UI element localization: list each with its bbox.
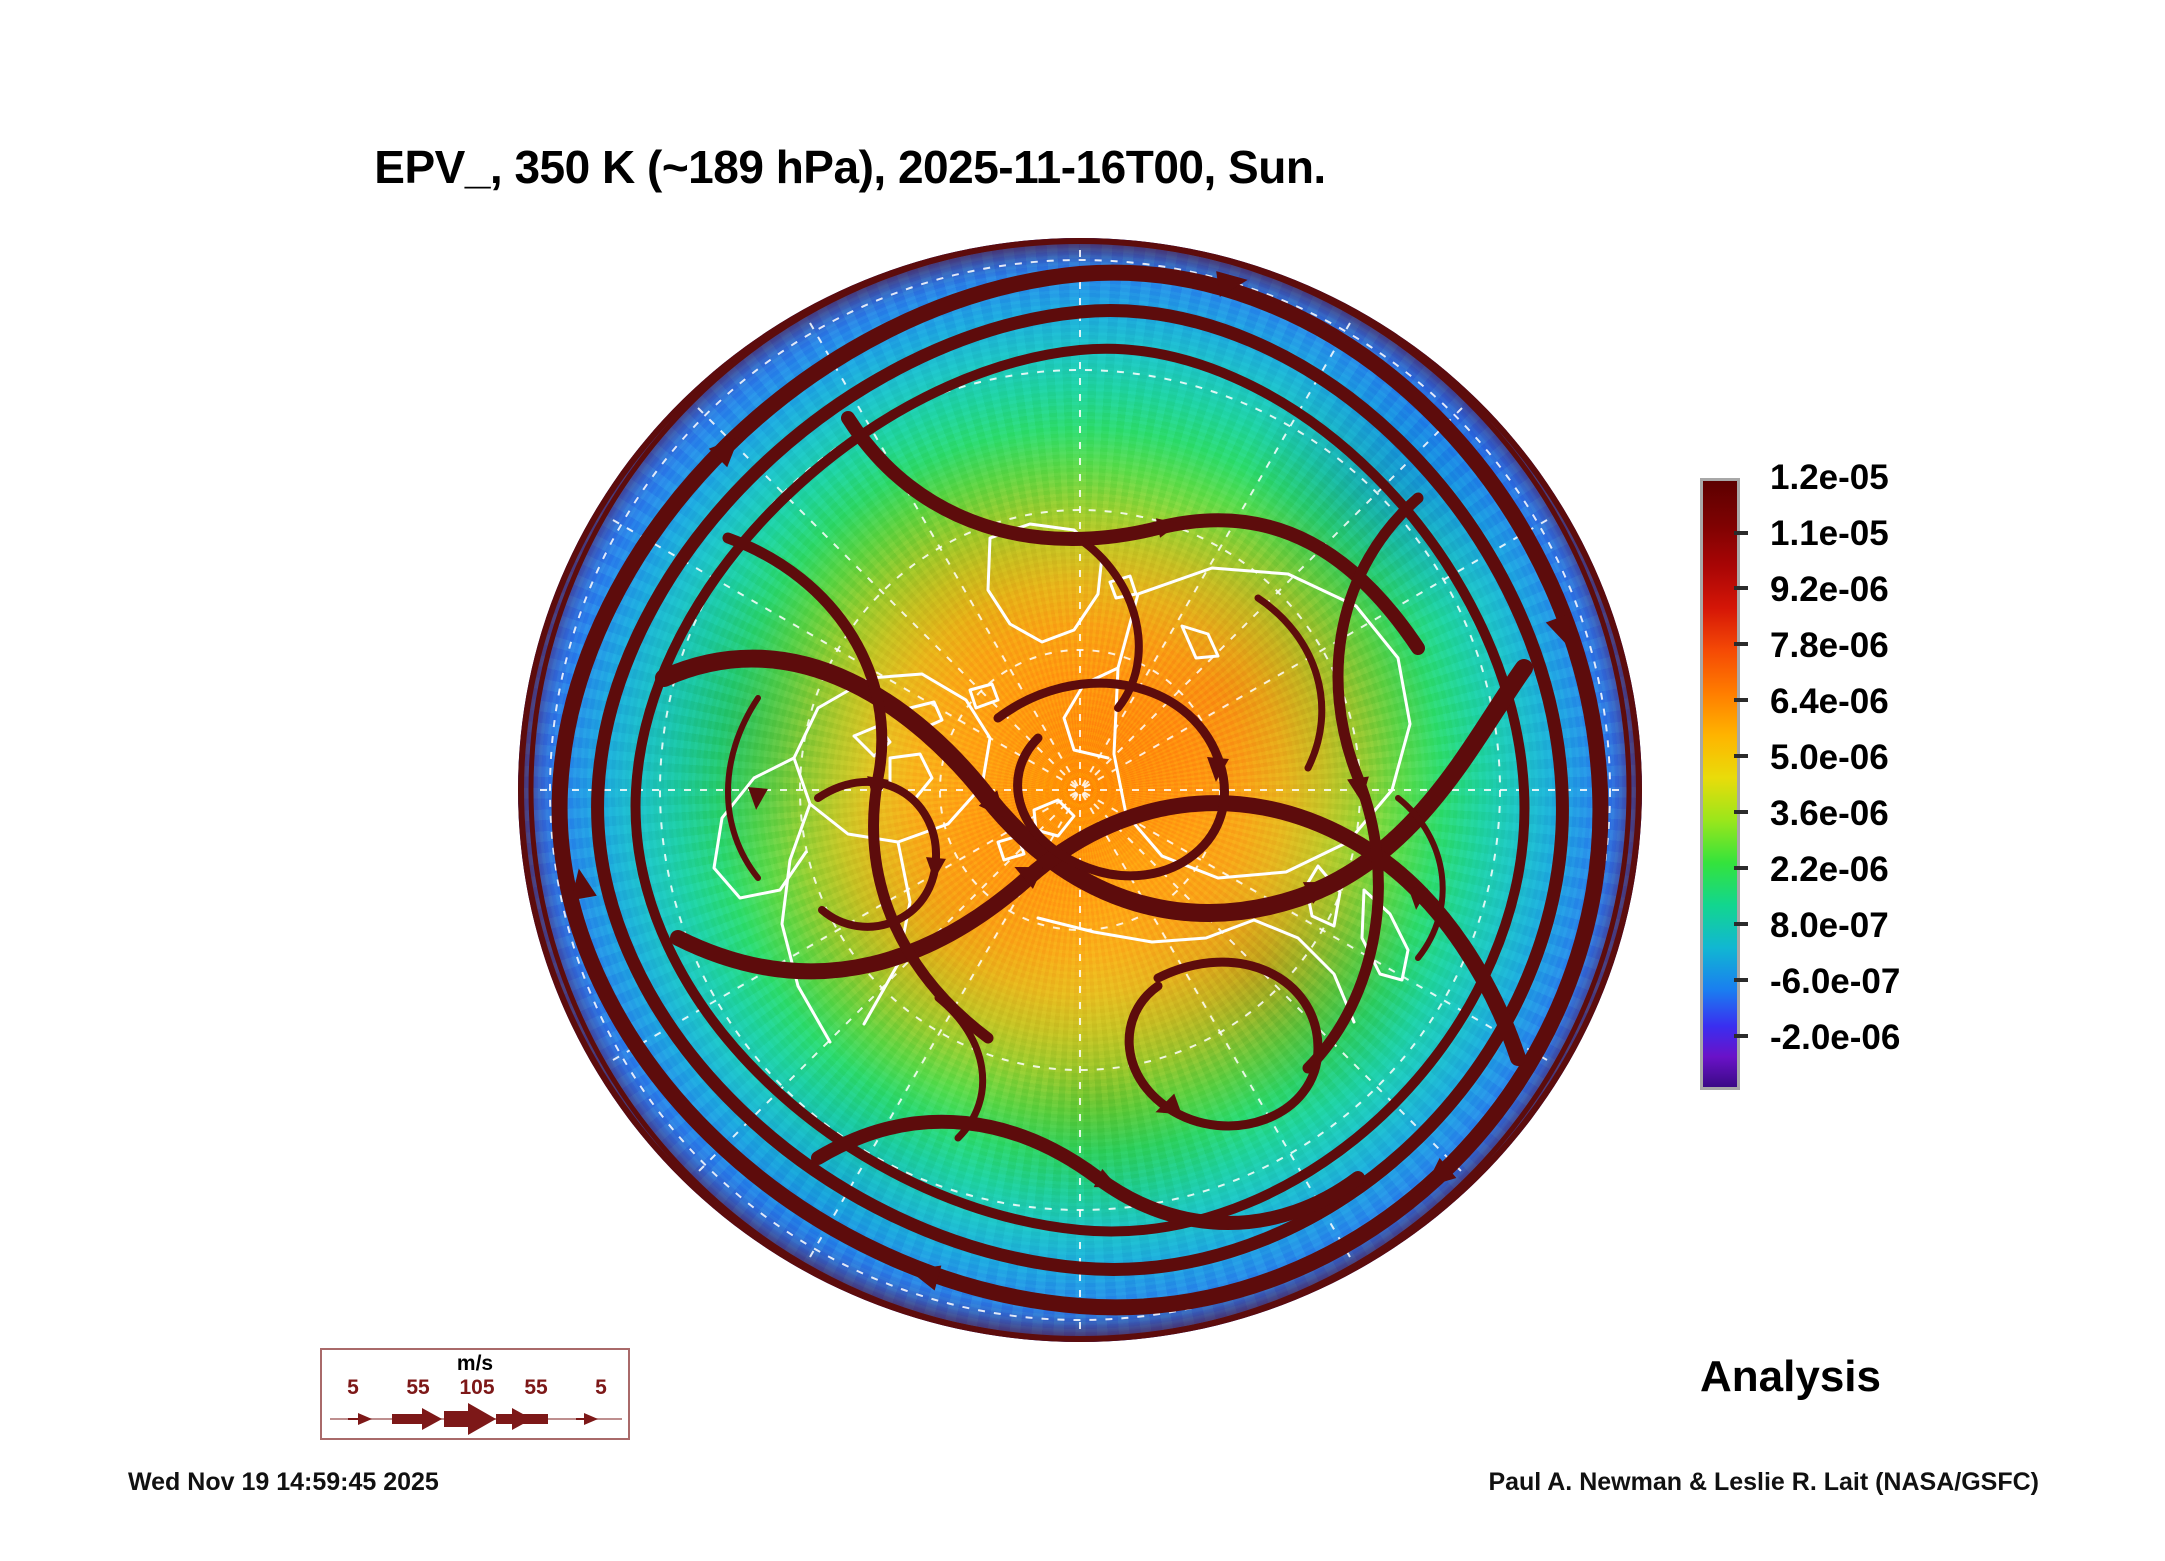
wind-arrow-55-right — [496, 1408, 548, 1430]
colorbar-tick — [1734, 922, 1748, 926]
wind-arrow-105-center — [444, 1403, 496, 1435]
author-credit: Paul A. Newman & Leslie R. Lait (NASA/GS… — [1488, 1468, 2039, 1497]
colorbar-tick — [1734, 698, 1748, 702]
analysis-label: Analysis — [1700, 1352, 1881, 1402]
colorbar-gradient — [1700, 478, 1740, 1090]
colorbar-label: 8.0e-07 — [1770, 906, 1889, 946]
colorbar-tick — [1734, 586, 1748, 590]
colorbar-tick — [1734, 866, 1748, 870]
colorbar: 1.2e-05 1.1e-05 9.2e-06 7.8e-06 6.4e-06 … — [1700, 478, 2100, 1098]
wind-legend-units: m/s — [322, 1352, 628, 1376]
polar-map-panel — [518, 238, 1642, 1342]
wind-legend-arrow-scale — [330, 1402, 622, 1436]
colorbar-tick — [1734, 1034, 1748, 1038]
colorbar-label: -2.0e-06 — [1770, 1018, 1900, 1058]
colorbar-label: -6.0e-07 — [1770, 962, 1900, 1002]
colorbar-tick — [1734, 531, 1748, 535]
wind-arrow-55-left — [392, 1408, 442, 1430]
colorbar-label: 1.1e-05 — [1770, 514, 1889, 554]
generation-timestamp: Wed Nov 19 14:59:45 2025 — [128, 1468, 439, 1497]
globe-outline — [531, 241, 1629, 1339]
colorbar-tick — [1734, 642, 1748, 646]
colorbar-tick — [1734, 978, 1748, 982]
wind-legend-tick: 5 — [347, 1376, 359, 1400]
map-overlay-svg — [518, 238, 1642, 1342]
colorbar-label: 6.4e-06 — [1770, 682, 1889, 722]
wind-arrow-5-left — [348, 1413, 372, 1425]
colorbar-label: 7.8e-06 — [1770, 626, 1889, 666]
colorbar-label: 2.2e-06 — [1770, 850, 1889, 890]
wind-legend-tick: 55 — [406, 1376, 429, 1400]
globe-disc — [518, 238, 1642, 1342]
wind-legend-tick: 55 — [524, 1376, 547, 1400]
colorbar-label: 9.2e-06 — [1770, 570, 1889, 610]
wind-legend-tick: 5 — [595, 1376, 607, 1400]
wind-speed-legend: m/s 5 55 105 55 5 — [320, 1348, 630, 1440]
colorbar-tick — [1734, 810, 1748, 814]
colorbar-label: 1.2e-05 — [1770, 458, 1889, 498]
wind-legend-tick: 105 — [459, 1376, 494, 1400]
colorbar-tick — [1734, 754, 1748, 758]
colorbar-label: 3.6e-06 — [1770, 794, 1889, 834]
wind-arrow-5-right — [576, 1413, 598, 1425]
page-title: EPV_, 350 K (~189 hPa), 2025-11-16T00, S… — [0, 140, 1700, 194]
colorbar-label: 5.0e-06 — [1770, 738, 1889, 778]
